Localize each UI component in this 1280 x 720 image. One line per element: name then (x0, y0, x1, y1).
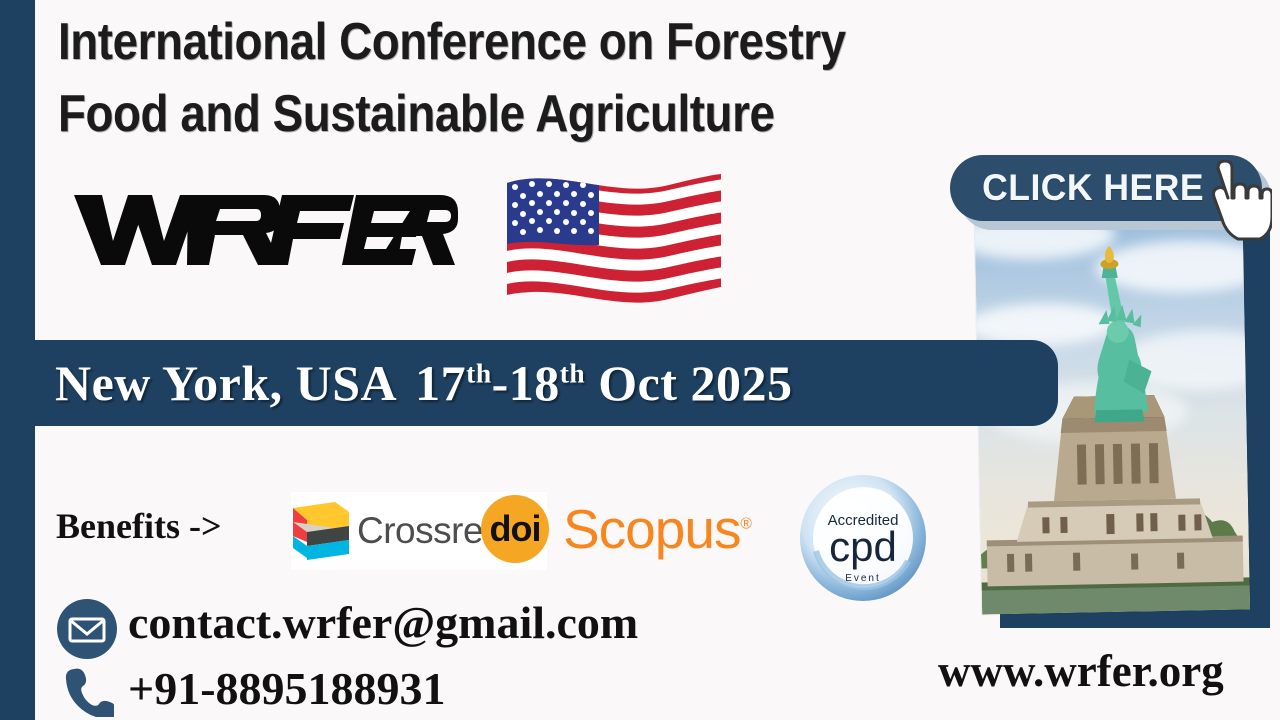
scopus-wordmark: Scopus (563, 498, 740, 560)
event-day-start: 17 (415, 355, 466, 411)
pointing-hand-cursor-icon (1198, 160, 1272, 246)
website-url[interactable]: www.wrfer.org (938, 645, 1224, 697)
svg-text:Event: Event (845, 573, 881, 584)
email-address[interactable]: contact.wrfer@gmail.com (128, 596, 638, 649)
event-day-end: 18 (509, 355, 560, 411)
event-day-start-suffix: th (466, 357, 491, 388)
crossref-wordmark: Crossref (357, 510, 493, 552)
doi-badge: doi (481, 495, 549, 563)
scopus-logo: Scopus® (563, 497, 751, 561)
doi-label: doi (490, 508, 541, 550)
event-day-end-suffix: th (560, 357, 585, 388)
title-line-1: International Conference on Forestry (58, 6, 1035, 78)
page-title: International Conference on Forestry Foo… (58, 6, 1168, 150)
svg-text:cpd: cpd (829, 523, 897, 570)
event-date-dash: - (492, 355, 509, 411)
benefits-label: Benefits -> (56, 505, 221, 547)
phone-number[interactable]: +91-8895188931 (128, 662, 446, 715)
wrfer-logo (68, 185, 458, 273)
event-month-year: Oct 2025 (598, 355, 792, 411)
event-location: New York, USA (55, 355, 397, 411)
event-date-text: New York, USA17th-18th Oct 2025 (55, 354, 792, 412)
cpd-accredited-badge: Accredited cpd Event (798, 473, 928, 603)
conference-poster: International Conference on Forestry Foo… (0, 0, 1280, 720)
click-here-label: CLICK HERE (983, 167, 1230, 209)
event-date-banner: New York, USA17th-18th Oct 2025 (0, 340, 1058, 426)
crossref-mark-icon (291, 498, 353, 564)
usa-flag (503, 165, 725, 310)
phone-icon (62, 665, 114, 717)
title-line-2: Food and Sustainable Agriculture (58, 78, 1035, 150)
scopus-trademark: ® (740, 516, 750, 533)
envelope-icon (56, 598, 118, 660)
